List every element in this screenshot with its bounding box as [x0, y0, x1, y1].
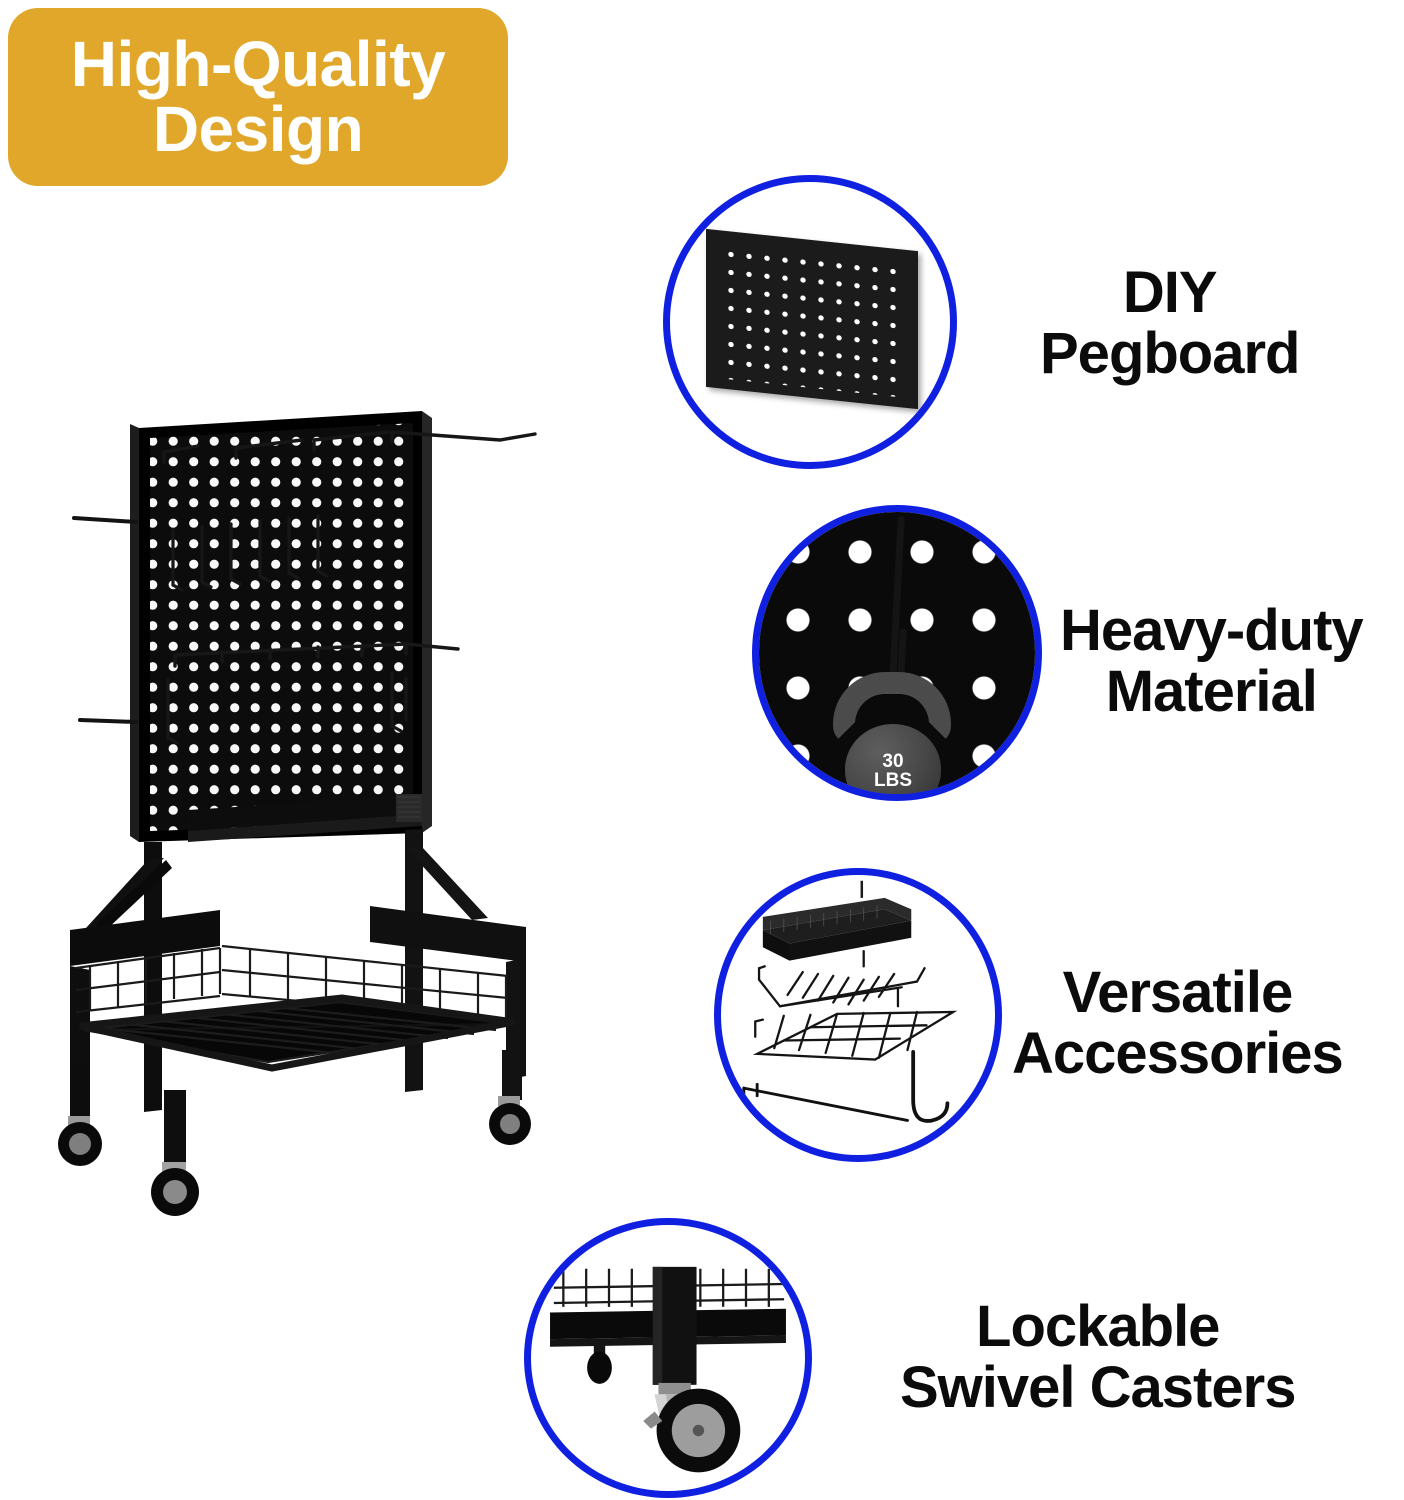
- pegboard-holes: [718, 240, 906, 398]
- versatile-accessories-circle: [714, 868, 1002, 1162]
- casters-line-2: Swivel Casters: [900, 1357, 1295, 1418]
- badge-line-2: Design: [153, 97, 363, 162]
- swivel-caster-icon: [531, 1225, 805, 1491]
- heavy-duty-line-1: Heavy-duty: [1060, 600, 1363, 661]
- wire-accessories-icon: [721, 875, 995, 1155]
- diy-pegboard-line-2: Pegboard: [1040, 323, 1300, 384]
- lockable-swivel-casters-label: Lockable Swivel Casters: [900, 1296, 1295, 1419]
- lockable-swivel-casters-circle: [524, 1218, 812, 1498]
- product-image-rolling-pegboard-cart: [40, 390, 560, 1220]
- weight-unit: LBS: [845, 771, 941, 790]
- product-illustration: [40, 390, 560, 1220]
- pegboard-panel-icon: [706, 229, 918, 409]
- heavy-duty-material-label: Heavy-duty Material: [1060, 600, 1363, 723]
- heavy-duty-material-circle: 30 LBS: [752, 505, 1042, 801]
- high-quality-design-badge: High-Quality Design: [8, 8, 508, 186]
- kettlebell-icon: 30 LBS: [819, 672, 969, 801]
- diy-pegboard-label: DIY Pegboard: [1040, 262, 1300, 385]
- diy-pegboard-circle: [663, 175, 957, 469]
- kettlebell-weight-label: 30 LBS: [845, 752, 941, 790]
- badge-line-1: High-Quality: [71, 32, 445, 97]
- weight-value: 30: [845, 752, 941, 771]
- heavy-duty-line-2: Material: [1060, 661, 1363, 722]
- infographic-page: High-Quality Design: [0, 0, 1404, 1500]
- versatile-accessories-label: Versatile Accessories: [1012, 962, 1343, 1085]
- casters-line-1: Lockable: [900, 1296, 1295, 1357]
- versatile-line-2: Accessories: [1012, 1023, 1343, 1084]
- diy-pegboard-line-1: DIY: [1040, 262, 1300, 323]
- versatile-line-1: Versatile: [1012, 962, 1343, 1023]
